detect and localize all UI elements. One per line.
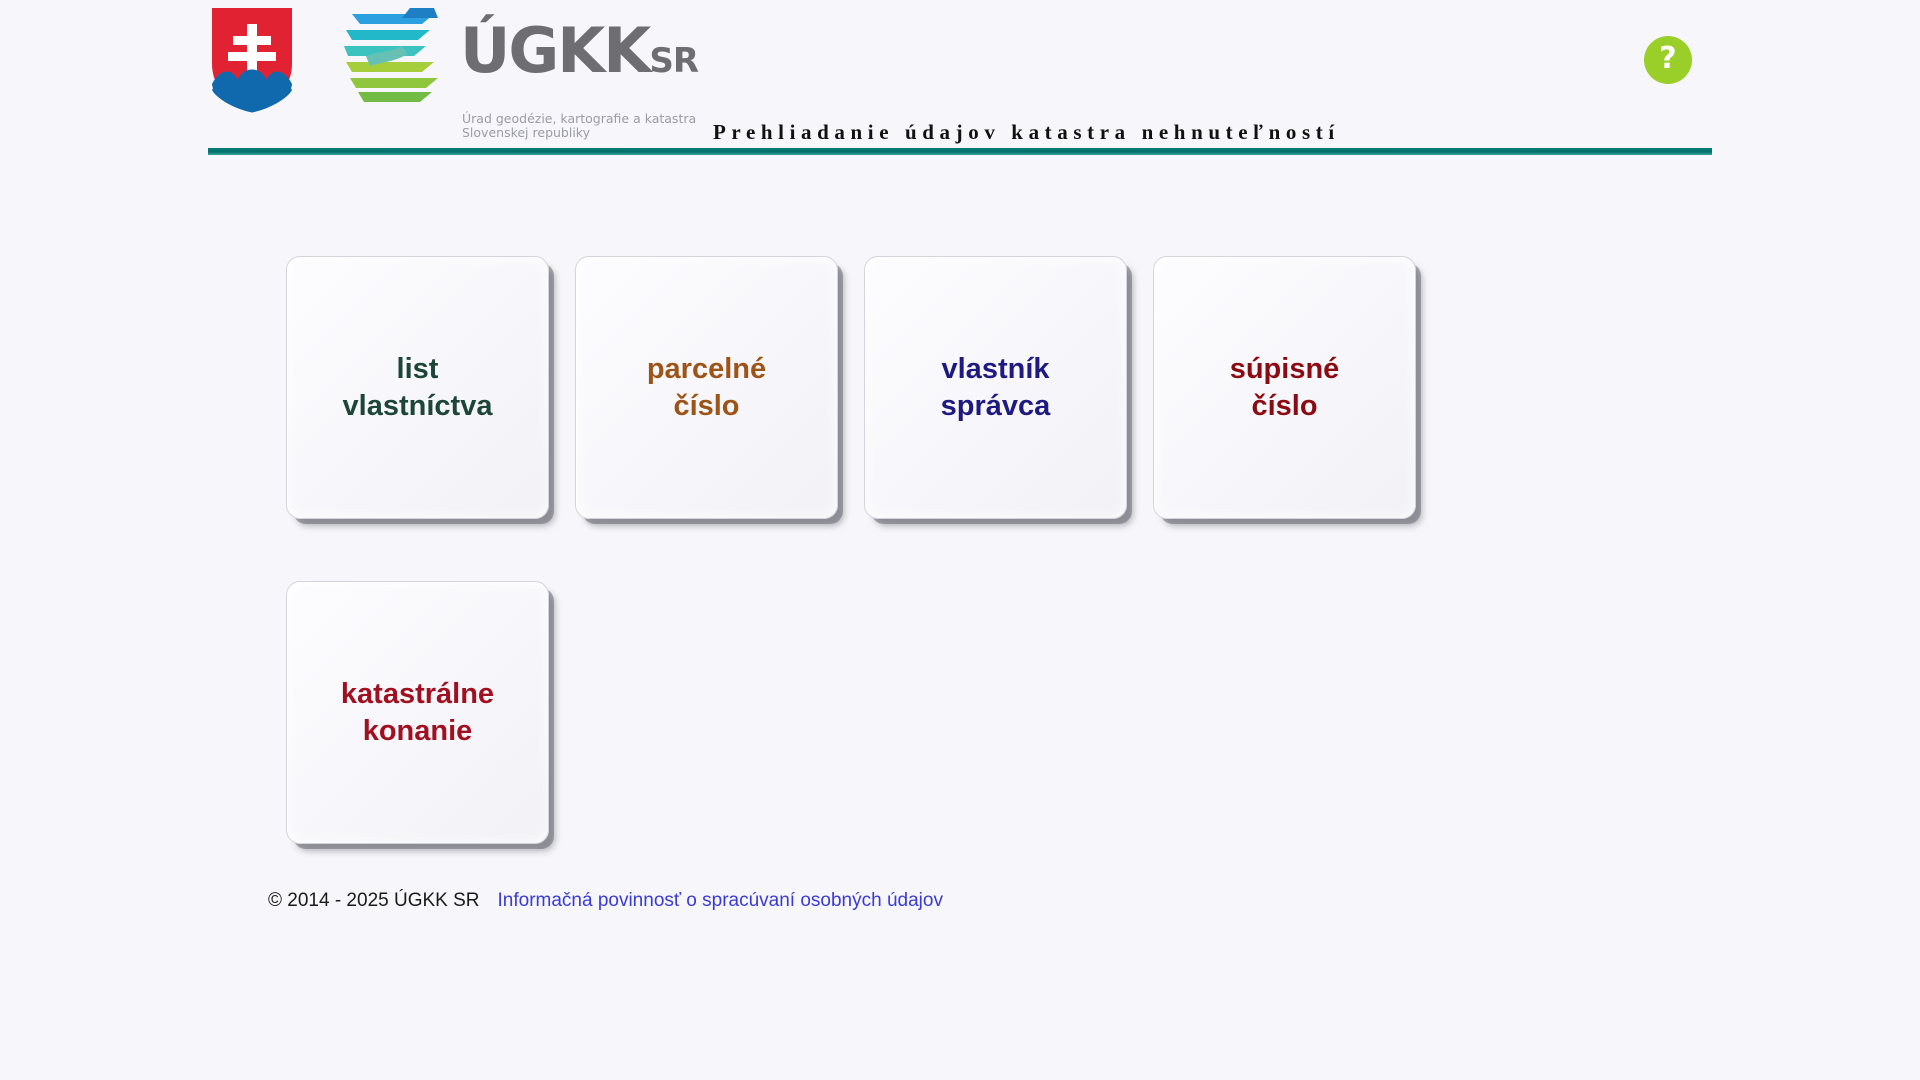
tile-label: katastrálne konanie [341, 676, 494, 750]
tile-row-2: katastrálne konanie [286, 581, 1606, 844]
tile-parcelne-cislo[interactable]: parcelné číslo [575, 256, 838, 519]
tile-label: súpisné číslo [1230, 351, 1340, 425]
tile-vlastnik-spravca[interactable]: vlastník správca [864, 256, 1127, 519]
page-root: ÚGKKSR Úrad geodézie, kartografie a kata… [0, 0, 1920, 1080]
page-header: ÚGKKSR Úrad geodézie, kartografie a kata… [0, 0, 1920, 160]
tile-label: parcelné číslo [647, 351, 766, 425]
tile-supisne-cislo[interactable]: súpisné číslo [1153, 256, 1416, 519]
ugkk-logo-subtitle: Úrad geodézie, kartografie a katastra Sl… [462, 112, 696, 140]
question-mark-icon: ? [1659, 44, 1676, 74]
page-title: Prehliadanie údajov katastra nehnuteľnos… [713, 120, 1340, 145]
tile-list-vlastnictva[interactable]: list vlastníctva [286, 256, 549, 519]
ugkk-wordmark-main: ÚGKK [460, 14, 649, 87]
ugkk-logo-mark-icon [338, 6, 456, 106]
privacy-policy-link[interactable]: Informačná povinnosť o spracúvaní osobný… [498, 890, 943, 912]
slovak-coat-of-arms-icon [208, 6, 296, 114]
tile-label: vlastník správca [941, 351, 1051, 425]
ugkk-logo: ÚGKKSR Úrad geodézie, kartografie a kata… [338, 6, 708, 138]
ugkk-wordmark-sr: SR [649, 41, 698, 81]
help-button[interactable]: ? [1644, 36, 1692, 84]
tile-label: list vlastníctva [343, 351, 493, 425]
ugkk-logo-wordmark: ÚGKKSR [460, 20, 698, 82]
header-inner: ÚGKKSR Úrad geodézie, kartografie a kata… [208, 0, 1712, 160]
tile-row-1: list vlastníctva parcelné číslo vlastník… [286, 256, 1606, 519]
header-divider [208, 148, 1712, 155]
tile-katastralne-konanie[interactable]: katastrálne konanie [286, 581, 549, 844]
page-footer: © 2014 - 2025 ÚGKK SR Informačná povinno… [268, 890, 943, 912]
copyright-text: © 2014 - 2025 ÚGKK SR [268, 890, 480, 912]
tile-grid: list vlastníctva parcelné číslo vlastník… [286, 256, 1606, 906]
